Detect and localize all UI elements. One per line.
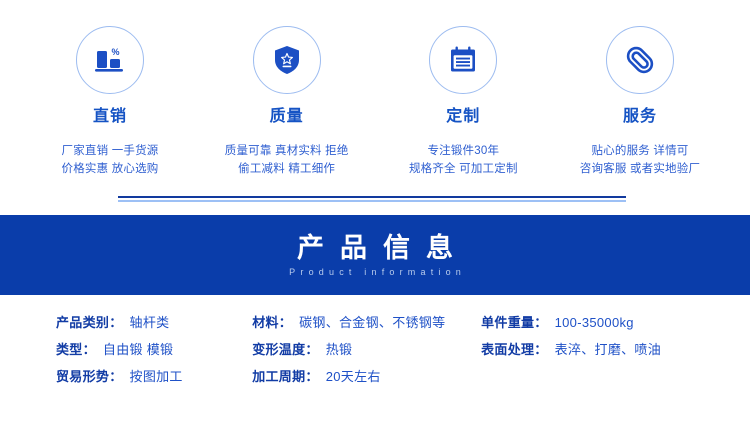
spec-row: 单件重量： 100-35000kg [481, 312, 710, 339]
spec-row: 产品类别： 轴杆类 [56, 312, 252, 339]
spec-label: 变形温度： [252, 339, 319, 358]
spec-value: 热锻 [326, 339, 353, 358]
feature-item-quality[interactable]: 质量 质量可靠 真材实料 拒绝 偷工减料 精工细作 [201, 26, 373, 179]
spec-value: 碳钢、合金钢、不锈钢等 [299, 312, 445, 331]
spec-row: 材料： 碳钢、合金钢、不锈钢等 [252, 312, 481, 339]
feature-description-line-1: 贴心的服务 详情可 [580, 143, 700, 161]
feature-icon-circle [253, 26, 321, 94]
spec-value: 20天左右 [326, 366, 381, 385]
feature-item-customization[interactable]: 定制 专注锻件30年 规格齐全 可加工定制 [377, 26, 549, 179]
spec-column-2: 材料： 碳钢、合金钢、不锈钢等 变形温度： 热锻 加工周期： 20天左右 [252, 312, 481, 393]
feature-title: 质量 [270, 109, 304, 125]
feature-title: 直销 [93, 109, 127, 125]
banner-title: 产品信息 [281, 233, 469, 263]
product-spec-table: 产品类别： 轴杆类 类型： 自由锻 模锻 贸易形势： 按图加工 材料： 碳钢、合… [0, 312, 750, 393]
svg-text:%: % [112, 47, 120, 57]
feature-title: 定制 [446, 109, 480, 125]
feature-description-line-1: 质量可靠 真材实料 拒绝 [225, 143, 349, 161]
spec-row: 变形温度： 热锻 [252, 339, 481, 366]
feature-description-line-2: 偷工减料 精工细作 [225, 161, 349, 179]
feature-icon-circle [606, 26, 674, 94]
feature-description: 贴心的服务 详情可 咨询客服 或者实地验厂 [580, 143, 700, 179]
decorative-divider [118, 196, 626, 202]
spec-label: 类型： [56, 339, 96, 358]
shield-star-icon [272, 44, 302, 76]
product-information-banner: 产品信息 Product information [0, 215, 750, 295]
spec-row: 加工周期： 20天左右 [252, 366, 481, 393]
spec-label: 产品类别： [56, 312, 123, 331]
paperclip-icon [623, 43, 657, 77]
feature-description-line-1: 专注锻件30年 [409, 143, 518, 161]
spec-value: 按图加工 [130, 366, 183, 385]
feature-description-line-2: 价格实惠 放心选购 [62, 161, 159, 179]
bar-chart-percent-icon: % [93, 44, 127, 76]
feature-title: 服务 [623, 109, 657, 125]
feature-item-service[interactable]: 服务 贴心的服务 详情可 咨询客服 或者实地验厂 [554, 26, 726, 179]
spec-column-1: 产品类别： 轴杆类 类型： 自由锻 模锻 贸易形势： 按图加工 [56, 312, 252, 393]
features-strip: % 直销 厂家直销 一手货源 价格实惠 放心选购 [0, 0, 750, 190]
feature-description: 专注锻件30年 规格齐全 可加工定制 [409, 143, 518, 179]
spec-value: 自由锻 模锻 [103, 339, 173, 358]
feature-description-line-2: 规格齐全 可加工定制 [409, 161, 518, 179]
feature-description: 厂家直销 一手货源 价格实惠 放心选购 [62, 143, 159, 179]
spec-label: 加工周期： [252, 366, 319, 385]
feature-description-line-2: 咨询客服 或者实地验厂 [580, 161, 700, 179]
spec-column-3: 单件重量： 100-35000kg 表面处理： 表淬、打磨、喷油 [481, 312, 710, 393]
feature-item-direct-sales[interactable]: % 直销 厂家直销 一手货源 价格实惠 放心选购 [24, 26, 196, 179]
divider-line-light [118, 200, 626, 202]
spec-value: 100-35000kg [555, 315, 634, 330]
spec-value: 表淬、打磨、喷油 [555, 339, 661, 358]
feature-icon-circle [429, 26, 497, 94]
product-info-page: % 直销 厂家直销 一手货源 价格实惠 放心选购 [0, 0, 750, 421]
feature-description: 质量可靠 真材实料 拒绝 偷工减料 精工细作 [225, 143, 349, 179]
feature-icon-circle: % [76, 26, 144, 94]
spec-label: 单件重量： [481, 312, 548, 331]
divider-line-dark [118, 196, 626, 198]
spec-label: 表面处理： [481, 339, 548, 358]
spec-row: 类型： 自由锻 模锻 [56, 339, 252, 366]
spec-row: 表面处理： 表淬、打磨、喷油 [481, 339, 710, 366]
spec-row: 贸易形势： 按图加工 [56, 366, 252, 393]
calendar-icon [447, 44, 479, 76]
feature-description-line-1: 厂家直销 一手货源 [62, 143, 159, 161]
banner-subtitle: Product information [284, 268, 466, 277]
spec-value: 轴杆类 [130, 312, 170, 331]
spec-label: 材料： [252, 312, 292, 331]
spec-label: 贸易形势： [56, 366, 123, 385]
